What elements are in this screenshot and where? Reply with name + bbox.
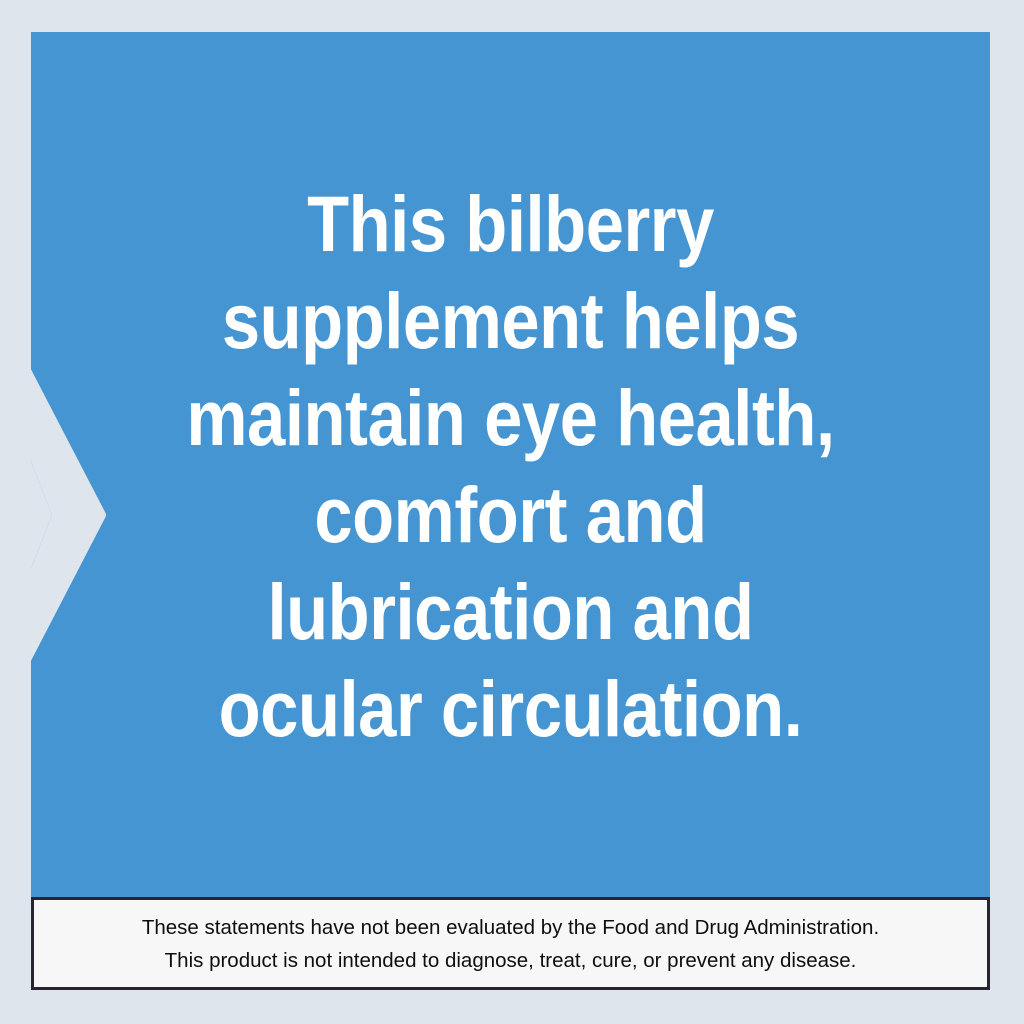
- headline-line-5: lubrication and: [93, 563, 927, 660]
- headline-line-1: This bilberry: [93, 175, 927, 272]
- fda-disclaimer-box: These statements have not been evaluated…: [31, 897, 990, 990]
- page-title: This bilberry supplement helps maintain …: [93, 175, 927, 757]
- headline-line-6: ocular circulation.: [93, 660, 927, 757]
- headline-line-3: maintain eye health,: [93, 369, 927, 466]
- headline-line-4: comfort and: [93, 466, 927, 563]
- disclaimer-line-2: This product is not intended to diagnose…: [165, 944, 857, 977]
- product-claim-graphic: This bilberry supplement helps maintain …: [0, 0, 1024, 1024]
- disclaimer-line-1: These statements have not been evaluated…: [142, 911, 879, 944]
- headline-line-2: supplement helps: [93, 272, 927, 369]
